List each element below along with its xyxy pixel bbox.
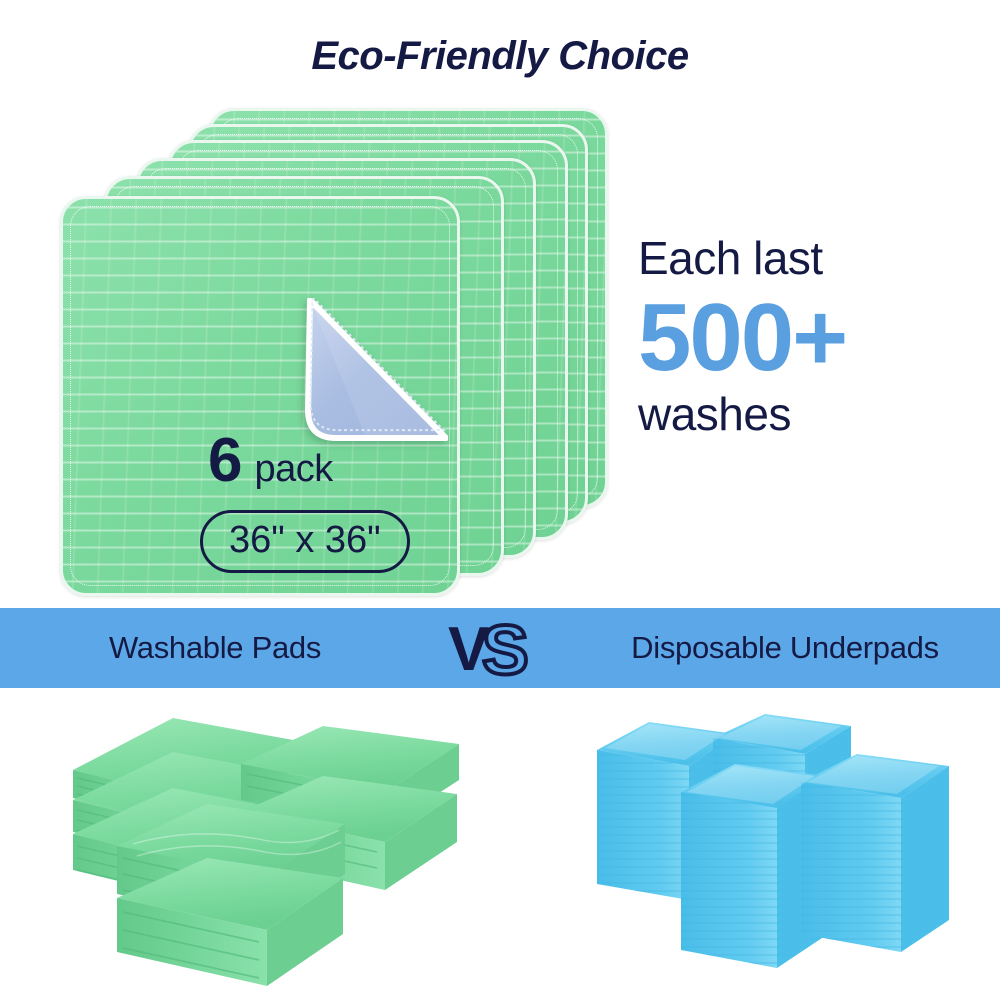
folded-washable-pads-image	[55, 700, 475, 990]
claim-line-3: washes	[638, 390, 978, 440]
size-badge: 36" x 36"	[200, 510, 410, 573]
disposable-underpads-image	[585, 700, 975, 990]
infographic-root: Eco-Friendly Choice	[0, 0, 1000, 1000]
banner-label-washable: Washable Pads	[0, 608, 430, 688]
claim-wash-count: 500+	[638, 290, 978, 386]
pack-count-label: 6 pack	[208, 430, 333, 492]
banner-label-disposable: Disposable Underpads	[570, 608, 1000, 688]
durability-claim: Each last 500+ washes	[638, 234, 978, 439]
comparison-banner: Washable Pads V S Disposable Underpads	[0, 608, 1000, 688]
claim-line-1: Each last	[638, 234, 978, 284]
pack-count-number: 6	[208, 430, 241, 492]
page-title: Eco-Friendly Choice	[0, 34, 1000, 79]
pack-count-word: pack	[254, 450, 332, 488]
flat-pad-stack: 6 pack 36" x 36"	[60, 108, 540, 588]
folded-corner-icon	[296, 298, 448, 448]
svg-text:S: S	[482, 611, 529, 688]
vs-icon: V S	[430, 608, 570, 688]
